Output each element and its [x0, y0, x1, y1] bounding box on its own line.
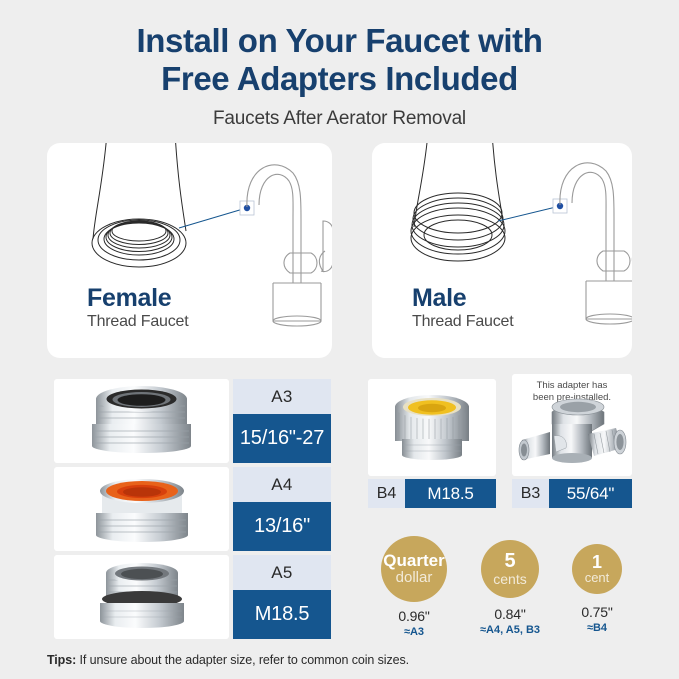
faucet-card-male-label: Male Thread Faucet — [412, 284, 513, 332]
adapter-badge-a4: A4 13/16" — [233, 467, 331, 551]
adapter-badge-b3: B3 55/64" — [512, 479, 632, 508]
footer-tips-label: Tips: — [47, 653, 76, 667]
coin-circle-one-cent: 1 cent — [572, 544, 622, 594]
adapter-size-a4: 13/16" — [233, 502, 331, 551]
adapter-image-a4 — [54, 467, 229, 551]
adapter-photo-card-b3: This adapter has been pre-installed. — [512, 374, 632, 476]
adapter-image-b4 — [368, 379, 496, 476]
adapter-name-b4: B4 — [368, 479, 405, 508]
coin-five-cents-top: 5 — [504, 551, 515, 571]
coin-quarter-top: Quarter — [383, 552, 444, 569]
adapter-size-b3: 55/64" — [549, 479, 632, 508]
adapter-photo-card-b4 — [368, 379, 496, 476]
coin-circle-quarter: Quarter dollar — [381, 536, 447, 602]
coin-five-cents-bottom: cents — [493, 571, 526, 587]
faucet-type-male: Male — [412, 284, 513, 312]
adapter-badge-b4: B4 M18.5 — [368, 479, 496, 508]
adapter-name-a5: A5 — [233, 555, 331, 590]
coin-one-cent-bottom: cent — [585, 571, 610, 586]
adapter-size-a3: 15/16"-27 — [233, 414, 331, 463]
coin-five-cents-dimension: 0.84" — [464, 606, 556, 622]
adapter-size-a5: M18.5 — [233, 590, 331, 639]
infographic-page: Install on Your Faucet with Free Adapter… — [0, 0, 679, 679]
page-title-line-2: Free Adapters Included — [0, 60, 679, 98]
faucet-subtitle-male: Thread Faucet — [412, 312, 513, 332]
coin-one-cent-top: 1 — [592, 553, 602, 571]
adapter-photo-card-a3 — [54, 379, 229, 463]
coin-circle-five-cents: 5 cents — [481, 540, 539, 598]
coin-quarter-bottom: dollar — [396, 569, 433, 586]
coin-one-cent: 1 cent 0.75" ≈B4 — [560, 544, 634, 634]
coin-five-cents: 5 cents 0.84" ≈A4, A5, B3 — [464, 540, 556, 636]
coin-one-cent-dimension: 0.75" — [560, 604, 634, 620]
adapter-photo-card-a5 — [54, 555, 229, 639]
coin-quarter-dimension: 0.96" — [368, 608, 460, 624]
footer-tips: Tips: If unsure about the adapter size, … — [47, 653, 409, 667]
faucet-subtitle-female: Thread Faucet — [87, 312, 188, 332]
footer-tips-text: If unsure about the adapter size, refer … — [76, 653, 409, 667]
adapter-name-a4: A4 — [233, 467, 331, 502]
coin-size-reference: Quarter dollar 0.96" ≈A3 5 cents 0.84" ≈… — [368, 536, 633, 641]
page-title-line-1: Install on Your Faucet with — [0, 22, 679, 60]
adapter-badge-a5: A5 M18.5 — [233, 555, 331, 639]
faucet-card-female-label: Female Thread Faucet — [87, 284, 188, 332]
page-header: Install on Your Faucet with Free Adapter… — [0, 22, 679, 130]
coin-five-cents-ref: ≈A4, A5, B3 — [464, 624, 556, 636]
adapter-image-a3 — [54, 379, 229, 463]
adapter-size-b4: M18.5 — [405, 479, 496, 508]
adapter-badge-a3: A3 15/16"-27 — [233, 379, 331, 463]
coin-quarter-ref: ≈A3 — [368, 626, 460, 638]
adapter-name-a3: A3 — [233, 379, 331, 414]
adapter-name-b3: B3 — [512, 479, 549, 508]
page-subtitle: Faucets After Aerator Removal — [0, 108, 679, 130]
faucet-card-male: Male Thread Faucet — [372, 143, 632, 358]
adapter-photo-card-a4 — [54, 467, 229, 551]
faucet-type-female: Female — [87, 284, 188, 312]
adapter-image-a5 — [54, 555, 229, 639]
coin-quarter-dollar: Quarter dollar 0.96" ≈A3 — [368, 536, 460, 638]
adapter-image-b3 — [512, 374, 632, 476]
coin-one-cent-ref: ≈B4 — [560, 622, 634, 634]
faucet-card-female: Female Thread Faucet — [47, 143, 332, 358]
